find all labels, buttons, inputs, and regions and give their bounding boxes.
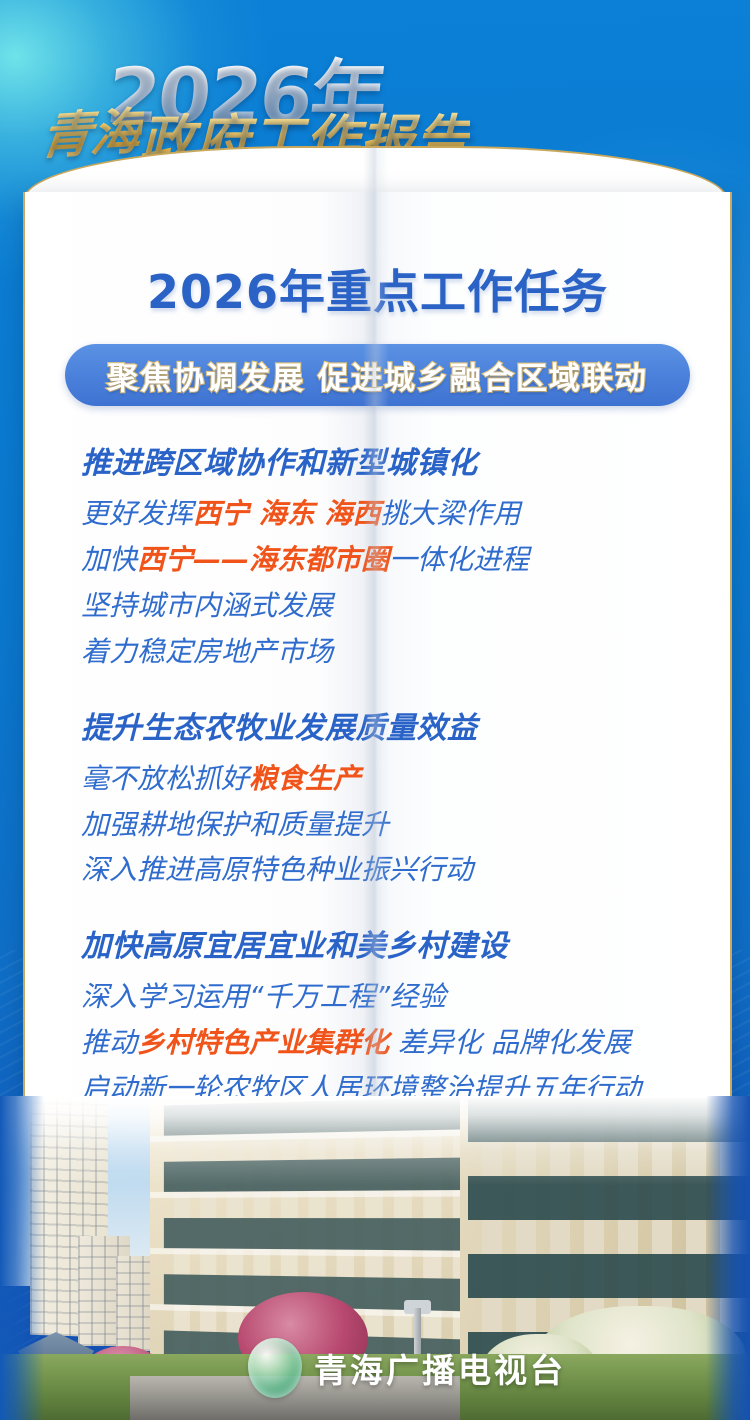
task-line-text: 坚持城市内涵式发展: [81, 589, 333, 622]
station-name: 青海广播电视台: [314, 1344, 566, 1392]
task-line: 着力稳定房地产市场: [81, 629, 701, 675]
photo-left-fade: [0, 1096, 44, 1420]
task-section-heading: 推进跨区域协作和新型城镇化: [81, 438, 701, 482]
task-line: 深入推进高原特色种业振兴行动: [81, 847, 701, 893]
task-line-text: 推动: [81, 1026, 137, 1059]
task-line-text: 差异化 品牌化发展: [389, 1026, 631, 1059]
pill-banner-label: 聚焦协调发展 促进城乡融合区域联动: [107, 353, 648, 398]
task-line-text: 加快: [81, 543, 137, 576]
task-line: 深入学习运用“千万工程”经验: [81, 974, 701, 1020]
task-line-text: 毫不放松抓好: [81, 762, 249, 795]
green-sphere-logo-icon: [248, 1338, 302, 1398]
task-line: 毫不放松抓好粮食生产: [81, 756, 701, 802]
poster-root: 2026年 2026年 青海 政府工作报告 2026年重点工作任务 聚焦协调发展…: [0, 0, 750, 1420]
task-line: 更好发挥西宁 海东 海西挑大梁作用: [81, 491, 701, 537]
task-line: 推动乡村特色产业集群化 差异化 品牌化发展: [81, 1020, 701, 1066]
task-line-highlight: 粮食生产: [249, 762, 361, 795]
task-sections: 推进跨区域协作和新型城镇化更好发挥西宁 海东 海西挑大梁作用加快西宁——海东都市…: [81, 438, 701, 1140]
task-line-text: 深入学习运用“千万工程”经验: [81, 980, 446, 1013]
task-line: 坚持城市内涵式发展: [81, 583, 701, 629]
task-line: 加强耕地保护和质量提升: [81, 802, 701, 848]
task-section: 提升生态农牧业发展质量效益毫不放松抓好粮食生产加强耕地保护和质量提升深入推进高原…: [81, 703, 701, 894]
task-line-text: 深入推进高原特色种业振兴行动: [81, 853, 473, 886]
task-line-highlight: 西宁——海东都市圈: [137, 543, 389, 576]
task-line-text: 更好发挥: [81, 497, 193, 530]
task-line-highlight: 乡村特色产业集群化: [137, 1026, 389, 1059]
content-card-wrapper: 2026年重点工作任务 聚焦协调发展 促进城乡融合区域联动 推进跨区域协作和新型…: [23, 192, 728, 1192]
task-line-highlight: 西宁 海东 海西: [193, 497, 381, 530]
task-line-text: 加强耕地保护和质量提升: [81, 808, 389, 841]
content-card: 2026年重点工作任务 聚焦协调发展 促进城乡融合区域联动 推进跨区域协作和新型…: [23, 192, 732, 1194]
page-title: 2026年重点工作任务: [25, 256, 730, 322]
task-line-text: 挑大梁作用: [381, 497, 521, 530]
task-section: 加快高原宜居宜业和美乡村建设深入学习运用“千万工程”经验推动乡村特色产业集群化 …: [81, 921, 701, 1112]
pill-banner: 聚焦协调发展 促进城乡融合区域联动: [65, 344, 690, 406]
task-section: 推进跨区域协作和新型城镇化更好发挥西宁 海东 海西挑大梁作用加快西宁——海东都市…: [81, 438, 701, 675]
station-logo: 青海广播电视台: [248, 1336, 548, 1400]
task-line: 加快西宁——海东都市圈一体化进程: [81, 537, 701, 583]
task-section-heading: 加快高原宜居宜业和美乡村建设: [81, 921, 701, 965]
task-line-text: 一体化进程: [389, 543, 529, 576]
task-section-heading: 提升生态农牧业发展质量效益: [81, 703, 701, 747]
task-line-text: 着力稳定房地产市场: [81, 635, 333, 668]
photo-top-fade: [0, 1096, 750, 1186]
photo-right-fade: [706, 1096, 750, 1420]
